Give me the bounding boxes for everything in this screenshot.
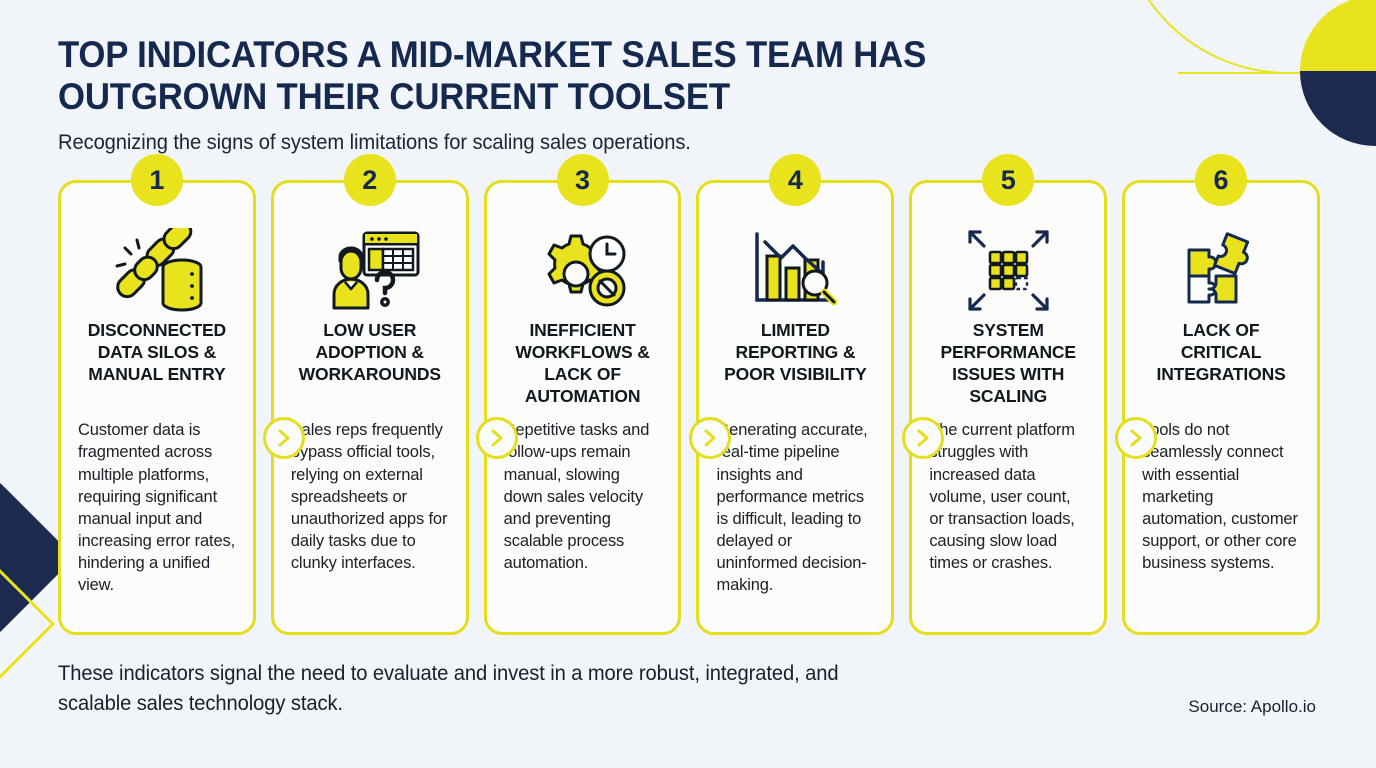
card-number-badge-4: 4 bbox=[769, 154, 821, 206]
indicator-card-2[interactable]: 2 bbox=[271, 180, 469, 635]
card-body-6: Tools do not seamlessly connect with ess… bbox=[1142, 419, 1300, 574]
card-number-badge-5: 5 bbox=[982, 154, 1034, 206]
indicator-card-6[interactable]: 6 LACK OF CRITICAL INTEGRATIONS Tools do… bbox=[1122, 180, 1320, 635]
card-body-3: Repetitive tasks and follow-ups remain m… bbox=[504, 419, 662, 574]
card-heading-4: LIMITED REPORTING & POOR VISIBILITY bbox=[716, 319, 874, 411]
gear-clock-prohibited-icon bbox=[504, 227, 662, 313]
card-heading-6: LACK OF CRITICAL INTEGRATIONS bbox=[1142, 319, 1300, 411]
card-heading-2: LOW USER ADOPTION & WORKAROUNDS bbox=[291, 319, 449, 411]
footer: These indicators signal the need to eval… bbox=[58, 659, 1320, 719]
page-title: TOP INDICATORS A MID-MARKET SALES TEAM H… bbox=[58, 34, 1064, 118]
infographic-page: TOP INDICATORS A MID-MARKET SALES TEAM H… bbox=[0, 0, 1376, 768]
card-heading-5: SYSTEM PERFORMANCE ISSUES WITH SCALING bbox=[929, 319, 1087, 411]
card-body-4: Generating accurate, real-time pipeline … bbox=[716, 419, 874, 596]
declining-bar-chart-magnifier-icon bbox=[716, 227, 874, 313]
indicator-card-5[interactable]: 5 bbox=[909, 180, 1107, 635]
card-number-badge-2: 2 bbox=[344, 154, 396, 206]
card-number-badge-6: 6 bbox=[1195, 154, 1247, 206]
card-body-2: Sales reps frequently bypass official to… bbox=[291, 419, 449, 574]
source-label: Source: Apollo.io bbox=[1188, 697, 1320, 719]
indicator-card-row: 1 bbox=[58, 180, 1320, 635]
card-body-5: The current platform struggles with incr… bbox=[929, 419, 1087, 574]
card-heading-3: INEFFICIENT WORKFLOWS & LACK OF AUTOMATI… bbox=[504, 319, 662, 411]
broken-chain-database-icon bbox=[78, 227, 236, 313]
indicator-card-1[interactable]: 1 bbox=[58, 180, 256, 635]
scaling-grid-arrows-icon bbox=[929, 227, 1087, 313]
indicator-card-3[interactable]: 3 INEFFICIENT WORKFLOWS & LACK OF AUTOMA… bbox=[484, 180, 682, 635]
card-number-badge-3: 3 bbox=[557, 154, 609, 206]
card-heading-1: DISCONNECTED DATA SILOS & MANUAL ENTRY bbox=[78, 319, 236, 411]
page-subtitle: Recognizing the signs of system limitati… bbox=[58, 131, 1270, 155]
card-number-badge-1: 1 bbox=[131, 154, 183, 206]
user-spreadsheet-question-icon bbox=[291, 227, 449, 313]
footer-note: These indicators signal the need to eval… bbox=[58, 659, 903, 719]
card-body-1: Customer data is fragmented across multi… bbox=[78, 419, 236, 596]
indicator-card-4[interactable]: 4 LIMITED REPORTING & POOR VISIBILITY Ge… bbox=[696, 180, 894, 635]
puzzle-pieces-icon bbox=[1142, 227, 1300, 313]
